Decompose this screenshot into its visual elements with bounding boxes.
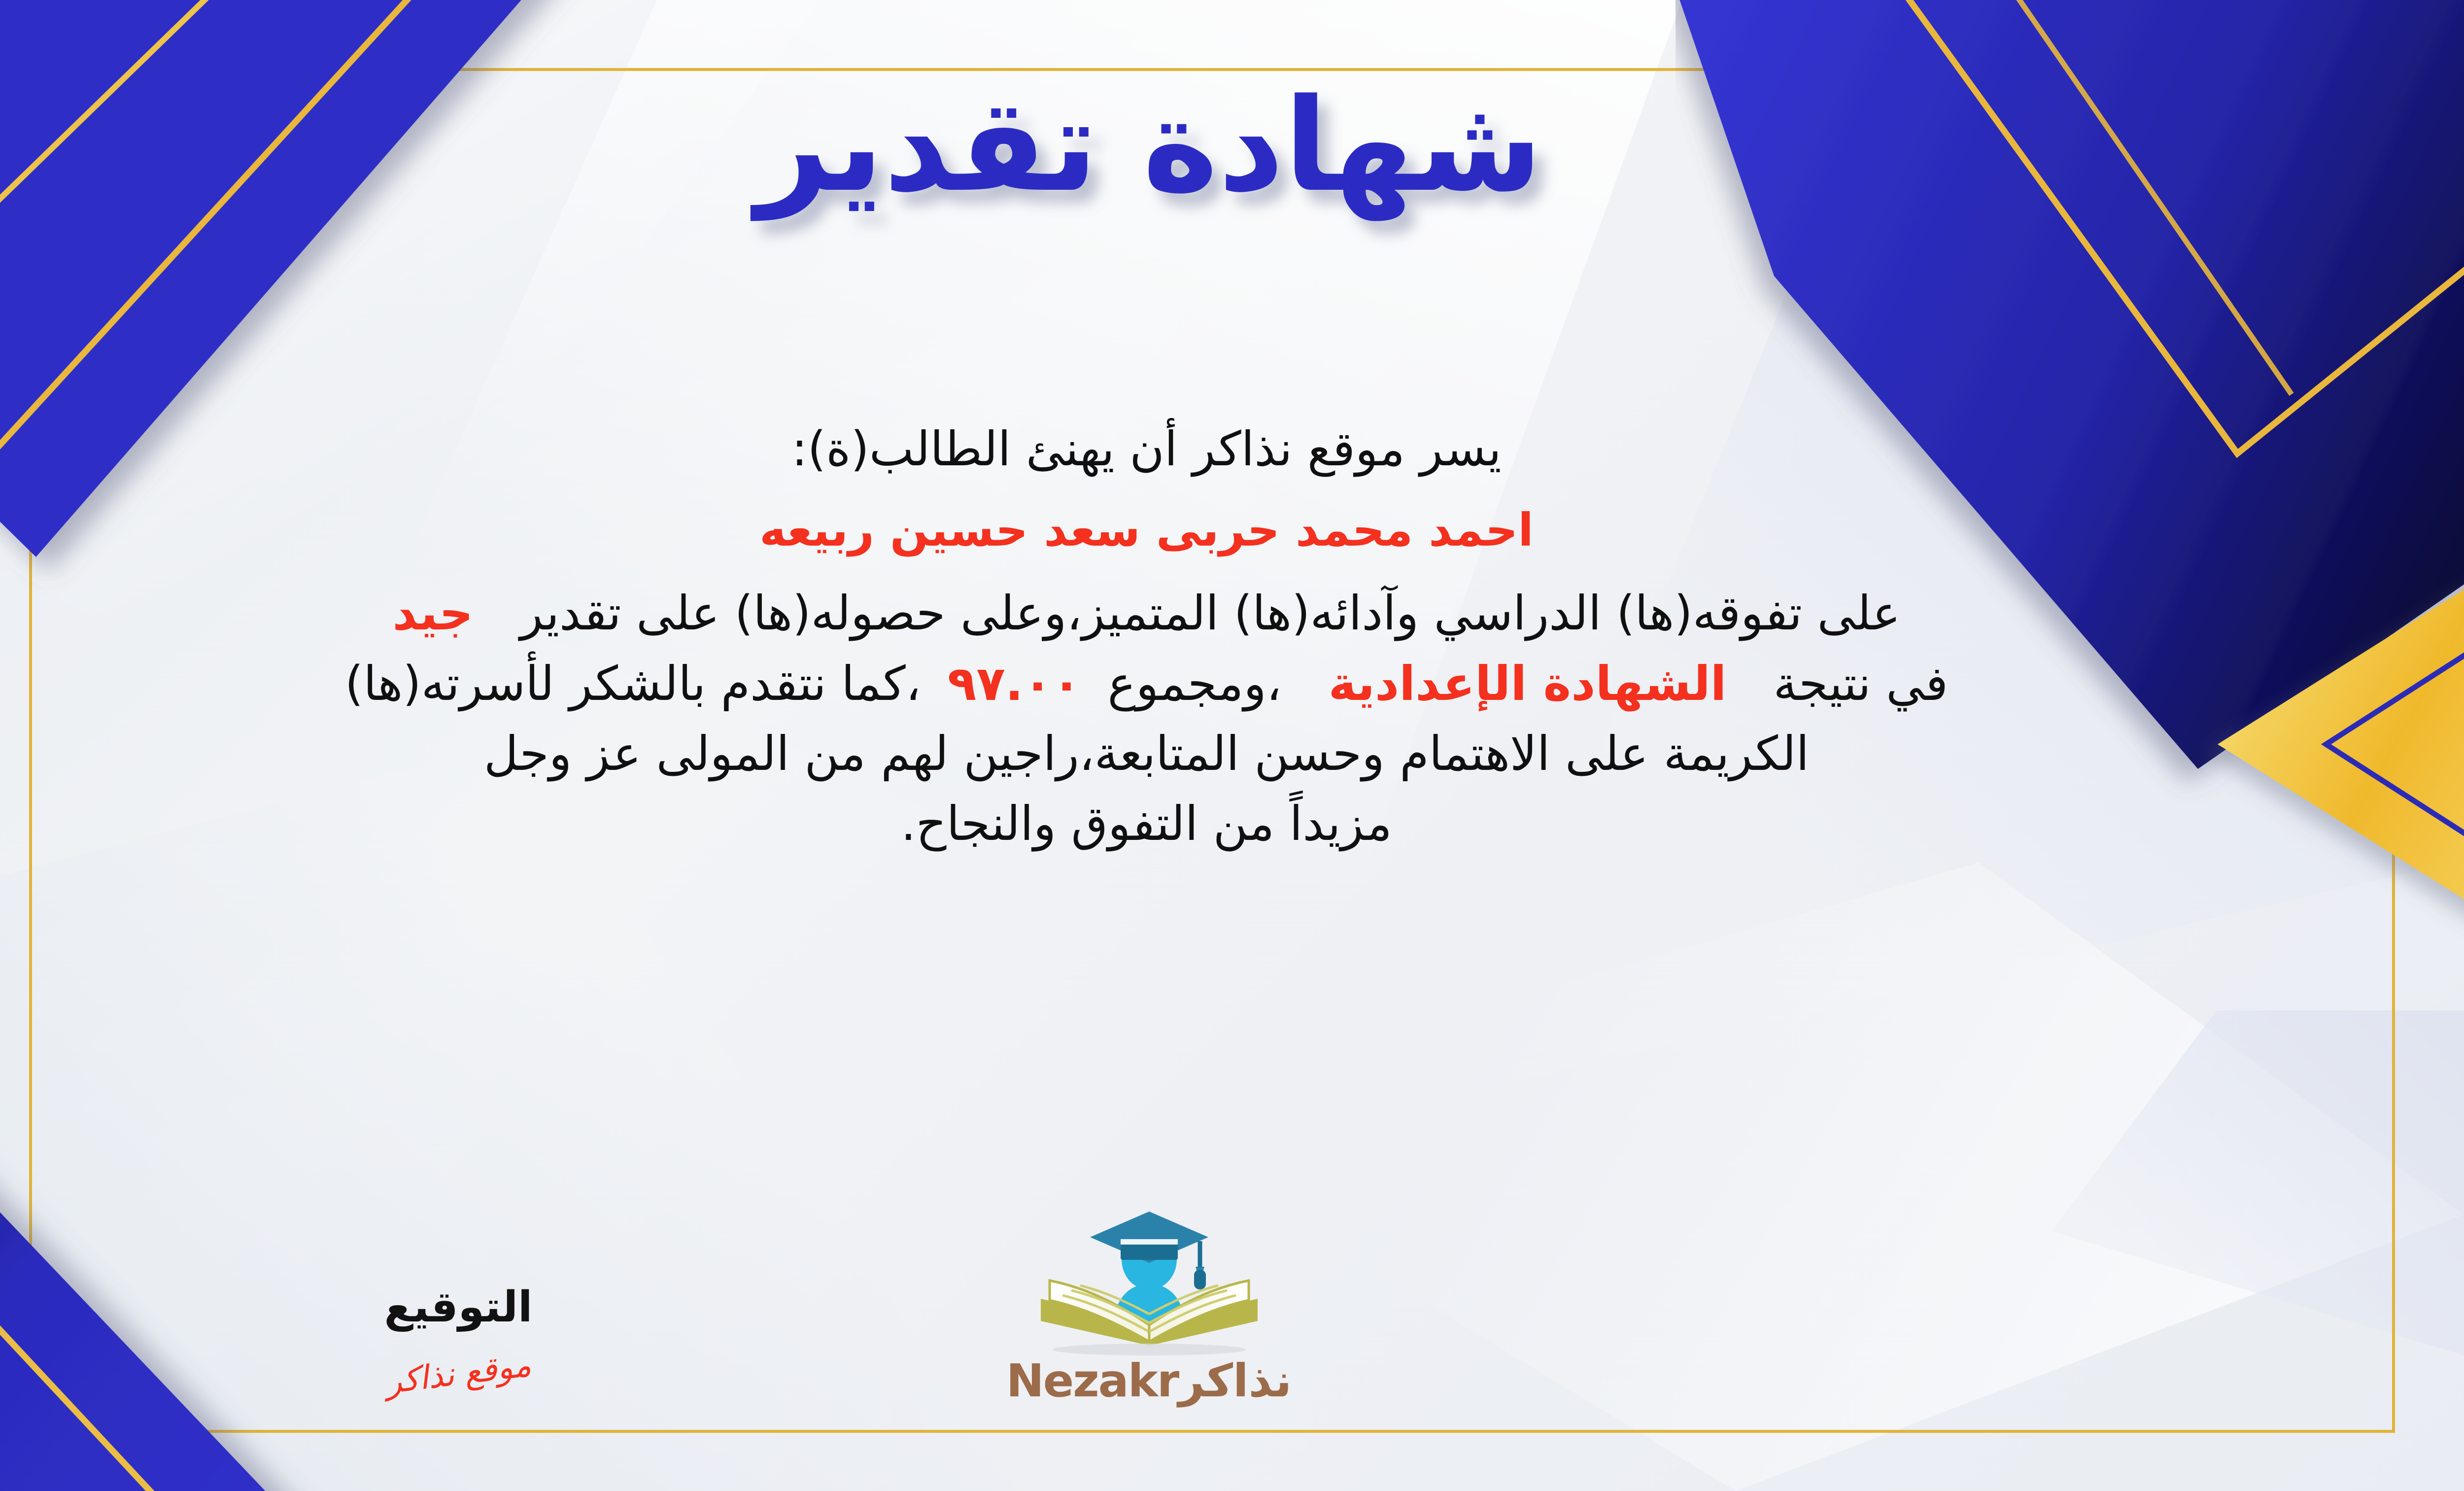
certificate-body: يسر موقع نذاكر أن يهنئ الطالب(ة): احمد م… [0, 416, 2356, 859]
logo-name-latin: Nezakr [1006, 1354, 1179, 1407]
certificate-page: شهادة تقدير يسر موقع نذاكر أن يهنئ الطال… [0, 0, 2464, 1491]
grade-value: جيد [392, 586, 473, 641]
student-name: احمد محمد حربى سعد حسين ربيعه [0, 496, 2356, 564]
result-line: في نتيجةالشهادة الإعدادية،ومجموع٩٧.٠٠،كم… [0, 649, 2356, 719]
logo-wordmark: Nezakrنذاكر [957, 1354, 1341, 1407]
achievement-line: على تفوقه(ها) الدراسي وآدائه(ها) المتميز… [0, 578, 2356, 648]
wishes-line: مزيداً من التفوق والنجاح. [0, 789, 2356, 859]
signature-block: التوقيع موقع نذاكر [306, 1283, 611, 1392]
result-prefix: في نتيجة [1774, 656, 1949, 711]
achievement-text: على تفوقه(ها) الدراسي وآدائه(ها) المتميز… [520, 586, 1900, 641]
total-label: ،ومجموع [1108, 656, 1282, 711]
logo-name-arabic: نذاكر [1178, 1354, 1292, 1407]
title-text: شهادة تقدير [750, 74, 1542, 222]
family-thanks-line: الكريمة على الاهتمام وحسن المتابعة،راجين… [0, 719, 2356, 789]
total-score: ٩٧.٠٠ [948, 656, 1081, 711]
site-logo: Nezakrنذاكر [957, 1198, 1341, 1407]
intro-line: يسر موقع نذاكر أن يهنئ الطالب(ة): [0, 416, 2356, 482]
thanks-prefix: ،كما نتقدم بالشكر لأسرته(ها) [345, 656, 921, 711]
exam-name: الشهادة الإعدادية [1329, 656, 1727, 711]
certificate-title: شهادة تقدير [0, 74, 2464, 239]
graduate-book-icon [1011, 1198, 1287, 1360]
signature-label: التوقيع [306, 1283, 611, 1332]
